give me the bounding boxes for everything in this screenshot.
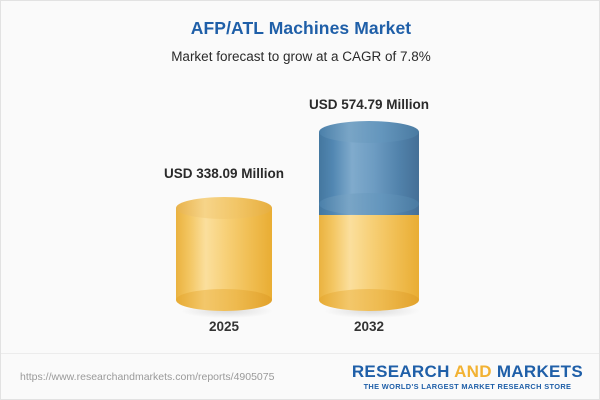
chart-plot-area: USD 338.09 Million 2025 USD 574.79 Milli… [1, 1, 600, 353]
category-label-2032: 2032 [354, 319, 384, 335]
cylinder-bottom-2032 [319, 289, 419, 311]
logo-word-markets: MARKETS [497, 362, 583, 381]
bar-segment-body [176, 208, 272, 300]
cylinder-bottom-2025 [176, 289, 272, 311]
segment-divider-2032 [319, 193, 419, 215]
bar-group-2032: USD 574.79 Million 2032 [319, 1, 419, 353]
bar-segment-base-2025 [176, 208, 272, 300]
chart-footer: https://www.researchandmarkets.com/repor… [1, 353, 600, 400]
bar-value-label-2032: USD 574.79 Million [309, 97, 429, 113]
report-url[interactable]: https://www.researchandmarkets.com/repor… [20, 371, 274, 384]
category-label-2025: 2025 [209, 319, 239, 335]
cylinder-top-2032 [319, 121, 419, 143]
cylinder-bar-2032 [319, 121, 419, 311]
bar-group-2025: USD 338.09 Million 2025 [176, 1, 272, 353]
logo-wordmark: RESEARCH AND MARKETS [352, 362, 583, 381]
cylinder-top-2025 [176, 197, 272, 219]
bar-value-label-2025: USD 338.09 Million [164, 166, 284, 182]
logo-tagline: THE WORLD'S LARGEST MARKET RESEARCH STOR… [352, 382, 583, 391]
research-and-markets-logo[interactable]: RESEARCH AND MARKETS THE WORLD'S LARGEST… [352, 362, 583, 391]
bar-segment-base-2032 [319, 204, 419, 300]
cylinder-bar-2025 [176, 197, 272, 311]
bar-segment-body [319, 204, 419, 300]
chart-card: AFP/ATL Machines Market Market forecast … [0, 0, 600, 400]
logo-word-and-text: AND [454, 362, 492, 381]
logo-word-research: RESEARCH [352, 362, 450, 381]
